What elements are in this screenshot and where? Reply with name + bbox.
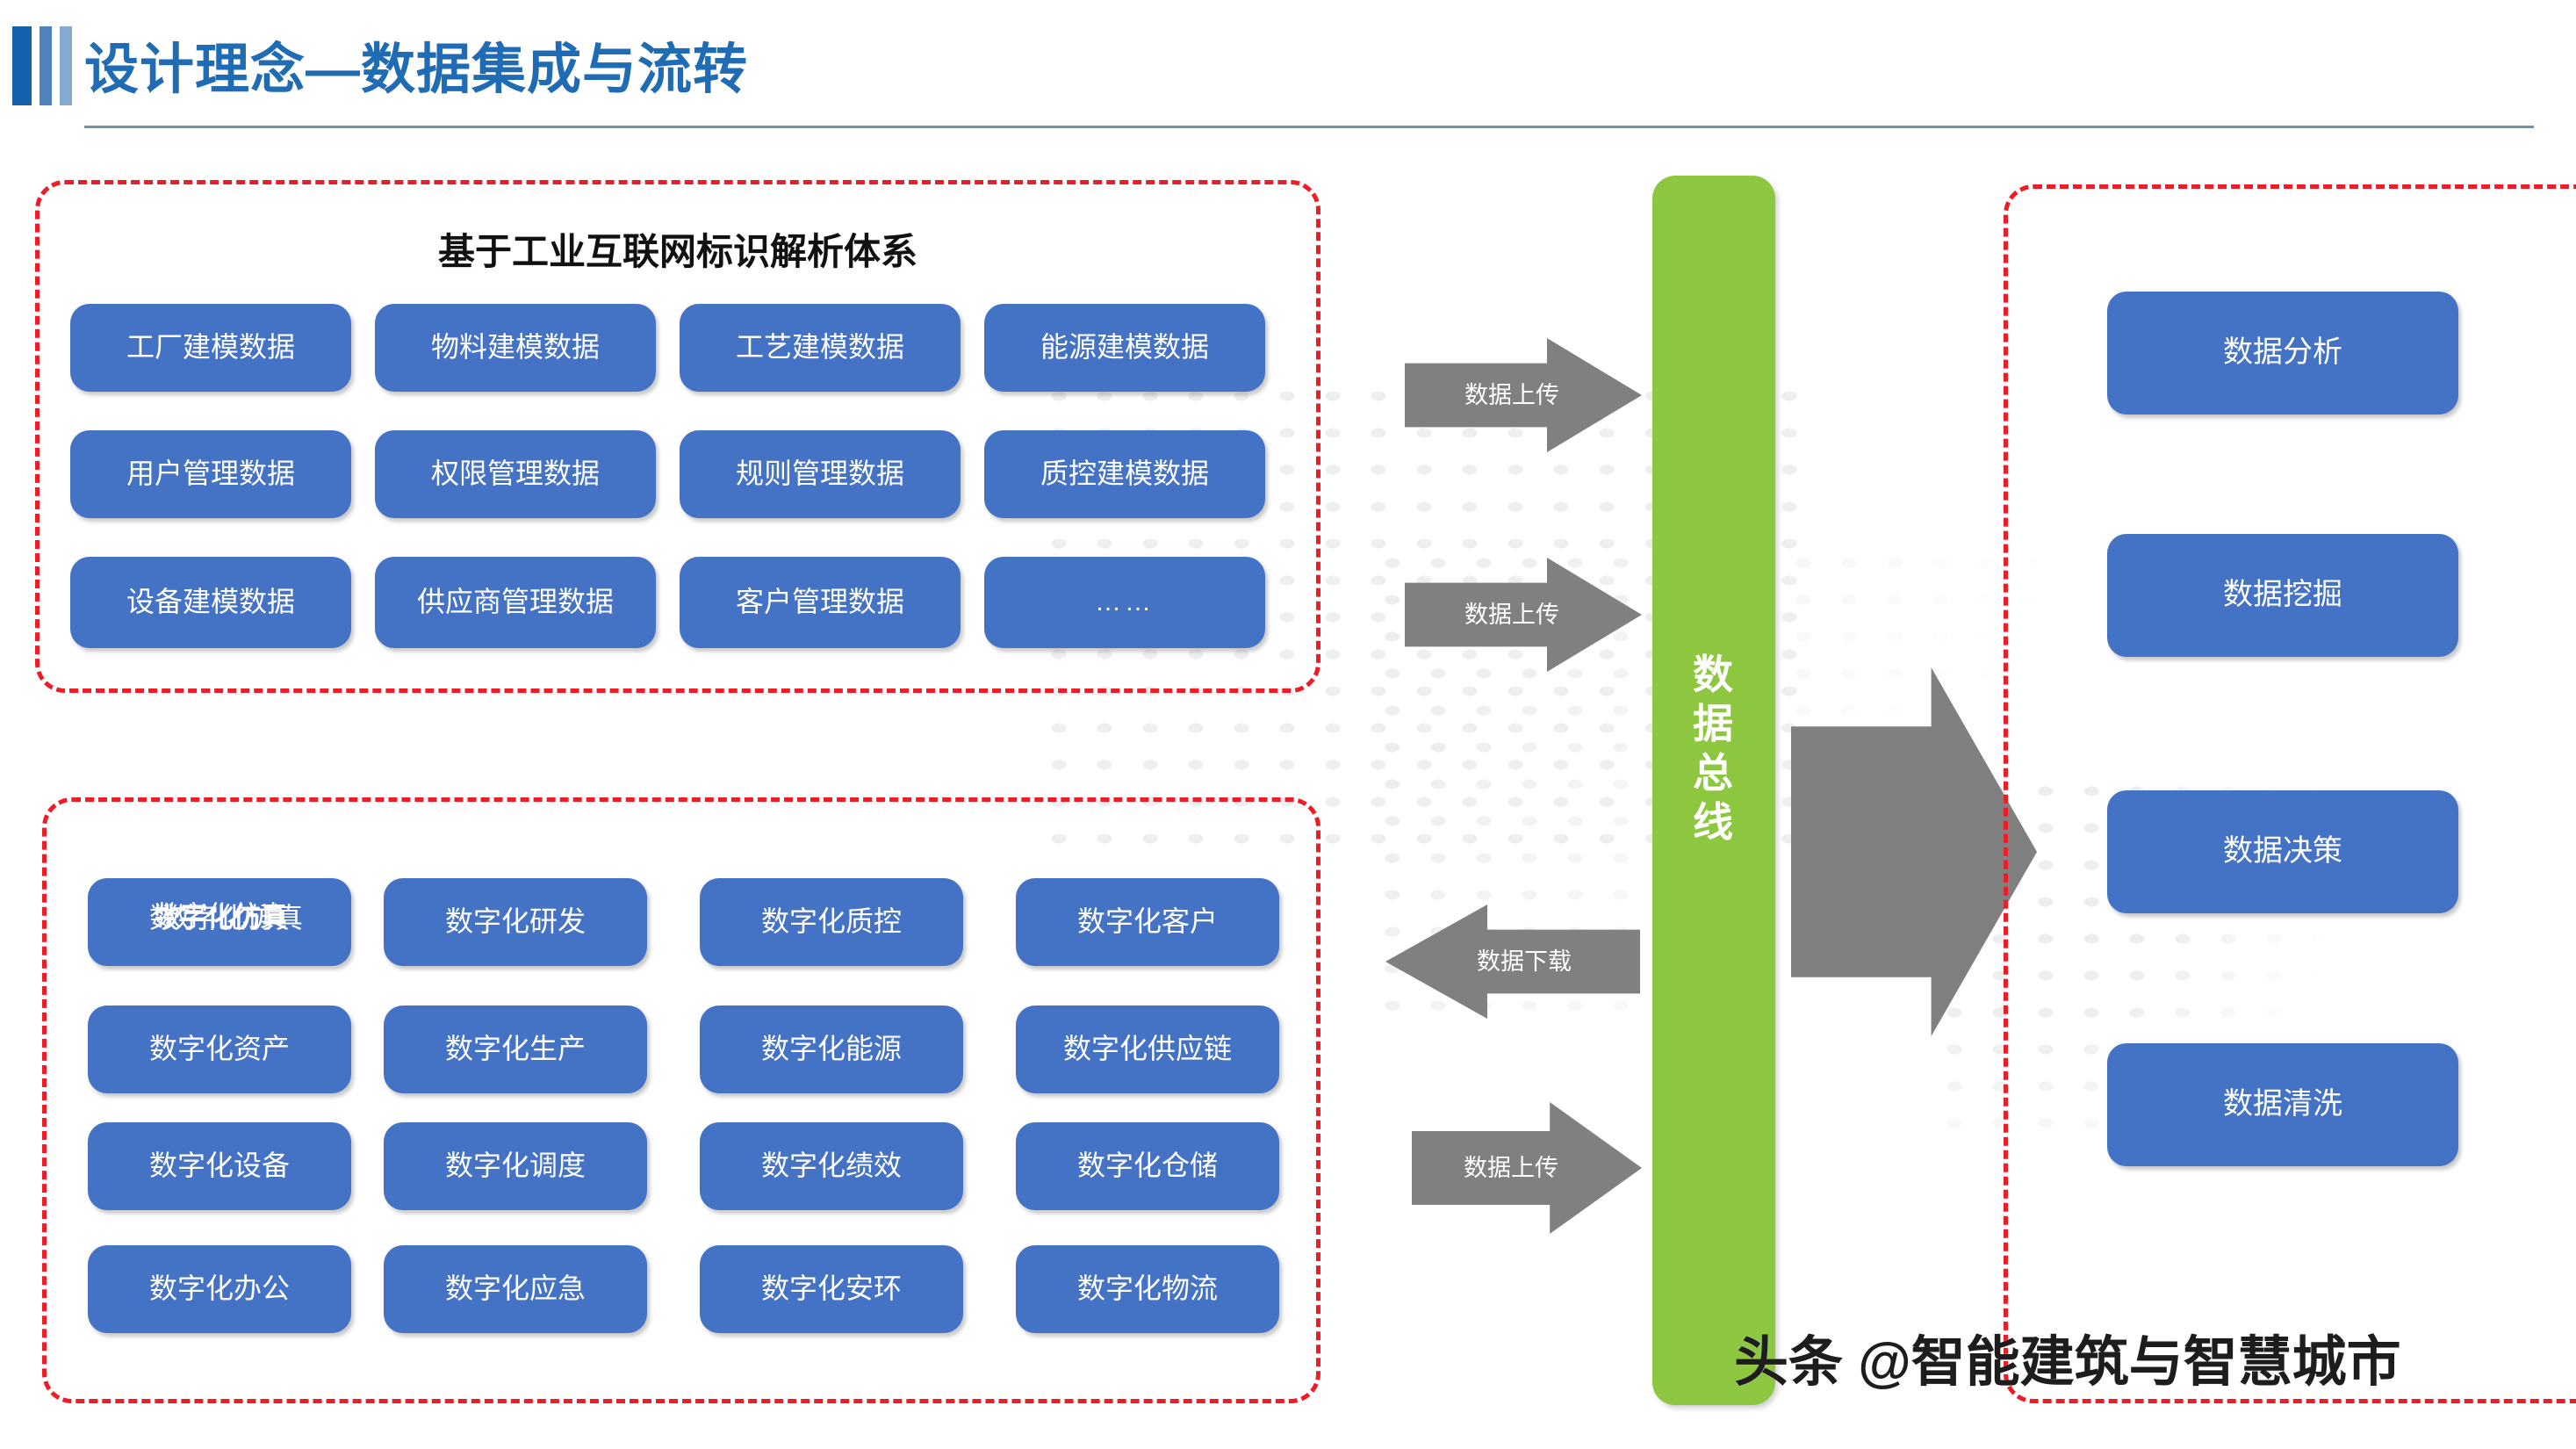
header-accent-bars (12, 26, 72, 105)
arrow-label: 数据上传 (1445, 1154, 1577, 1182)
source-box[interactable]: 客户管理数据 (680, 557, 961, 648)
digital-box[interactable]: 数字化供应链 (1016, 1006, 1279, 1093)
digital-box-simulation[interactable]: 数字化仿真 数字化仿真 数字化仿真 (88, 878, 351, 966)
data-bus-char: 线 (1652, 797, 1775, 847)
accent-bar-mid (40, 26, 52, 105)
data-bus-char: 数 (1652, 650, 1775, 699)
digital-box[interactable]: 数字化应急 (384, 1245, 647, 1333)
service-box[interactable]: 数据清洗 (2107, 1043, 2458, 1166)
digital-box[interactable]: 数字化安环 (700, 1245, 963, 1333)
title-divider (84, 126, 2534, 128)
arrow-label: 数据上传 (1464, 381, 1559, 409)
digital-box[interactable]: 数字化物流 (1016, 1245, 1279, 1333)
source-box[interactable]: 用户管理数据 (70, 430, 351, 518)
data-bus-char: 据 (1652, 699, 1775, 748)
data-bus-label: 数 据 总 线 (1652, 650, 1775, 847)
digital-box[interactable]: 数字化资产 (88, 1006, 351, 1093)
accent-bar-dark (12, 26, 32, 105)
source-box[interactable]: 能源建模数据 (984, 304, 1265, 392)
data-bus-char: 总 (1652, 748, 1775, 797)
digital-box[interactable]: 数字化客户 (1016, 878, 1279, 966)
source-box[interactable]: 规则管理数据 (680, 430, 961, 518)
source-box[interactable]: 设备建模数据 (70, 557, 351, 648)
watermark-text: 头条 @智能建筑与智慧城市 (1734, 1317, 2401, 1396)
digital-box[interactable]: 数字化调度 (384, 1122, 647, 1210)
arrow-bus-to-services (1791, 667, 2037, 1036)
arrow-label: 数据下载 (1477, 948, 1572, 976)
service-box[interactable]: 数据分析 (2107, 292, 2458, 415)
digital-box[interactable]: 数字化能源 (700, 1006, 963, 1093)
arrow-label: 数据上传 (1464, 601, 1559, 629)
sources-panel-heading: 基于工业互联网标识解析体系 (35, 222, 1320, 276)
source-box[interactable]: 权限管理数据 (375, 430, 656, 518)
source-box[interactable]: 物料建模数据 (375, 304, 656, 392)
digital-box[interactable]: 数字化设备 (88, 1122, 351, 1210)
digital-box[interactable]: 数字化绩效 (700, 1122, 963, 1210)
arrow-data-upload-2: 数据上传 (1405, 558, 1642, 672)
source-box[interactable]: 工艺建模数据 (680, 304, 961, 392)
service-box[interactable]: 数据决策 (2107, 790, 2458, 913)
arrow-data-upload-3: 数据上传 (1412, 1102, 1642, 1234)
source-box[interactable]: 质控建模数据 (984, 430, 1265, 518)
digital-box[interactable]: 数字化研发 (384, 878, 647, 966)
source-box[interactable]: 供应商管理数据 (375, 557, 656, 648)
accent-bar-light (60, 26, 72, 105)
digital-box[interactable]: 数字化仓储 (1016, 1122, 1279, 1210)
digital-box[interactable]: 数字化办公 (88, 1245, 351, 1333)
source-box-ellipsis[interactable]: …… (984, 557, 1265, 648)
arrow-data-upload-1: 数据上传 (1405, 338, 1642, 452)
digital-box[interactable]: 数字化质控 (700, 878, 963, 966)
digital-box[interactable]: 数字化生产 (384, 1006, 647, 1093)
arrow-data-download: 数据下载 (1385, 905, 1640, 1019)
digital-box-label-layer-3: 数字化仿真 (88, 901, 351, 935)
source-box[interactable]: 工厂建模数据 (70, 304, 351, 392)
page-title: 设计理念—数据集成与流转 (84, 25, 748, 104)
service-box[interactable]: 数据挖掘 (2107, 534, 2458, 657)
